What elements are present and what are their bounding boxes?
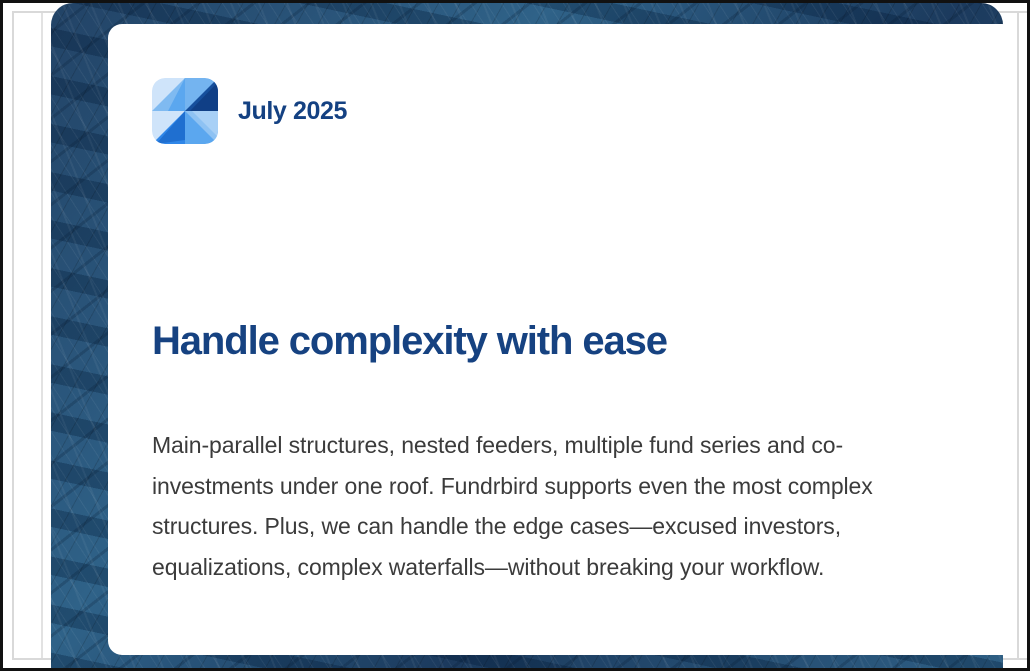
page-edge-line-left: [12, 11, 14, 660]
page-edge-line-inner: [41, 11, 43, 660]
screenshot-viewport: July 2025 Handle complexity with ease Ma…: [0, 0, 1030, 671]
brand-row: July 2025: [152, 78, 347, 144]
page-title: Handle complexity with ease: [152, 319, 667, 364]
navy-textured-frame: July 2025 Handle complexity with ease Ma…: [51, 3, 1003, 671]
page-edge-line-right: [1017, 11, 1019, 660]
fundrbird-logo-icon: [152, 78, 218, 144]
body-paragraph: Main-parallel structures, nested feeders…: [152, 425, 964, 587]
content-card: July 2025 Handle complexity with ease Ma…: [108, 24, 1003, 655]
issue-date-label: July 2025: [238, 99, 347, 124]
